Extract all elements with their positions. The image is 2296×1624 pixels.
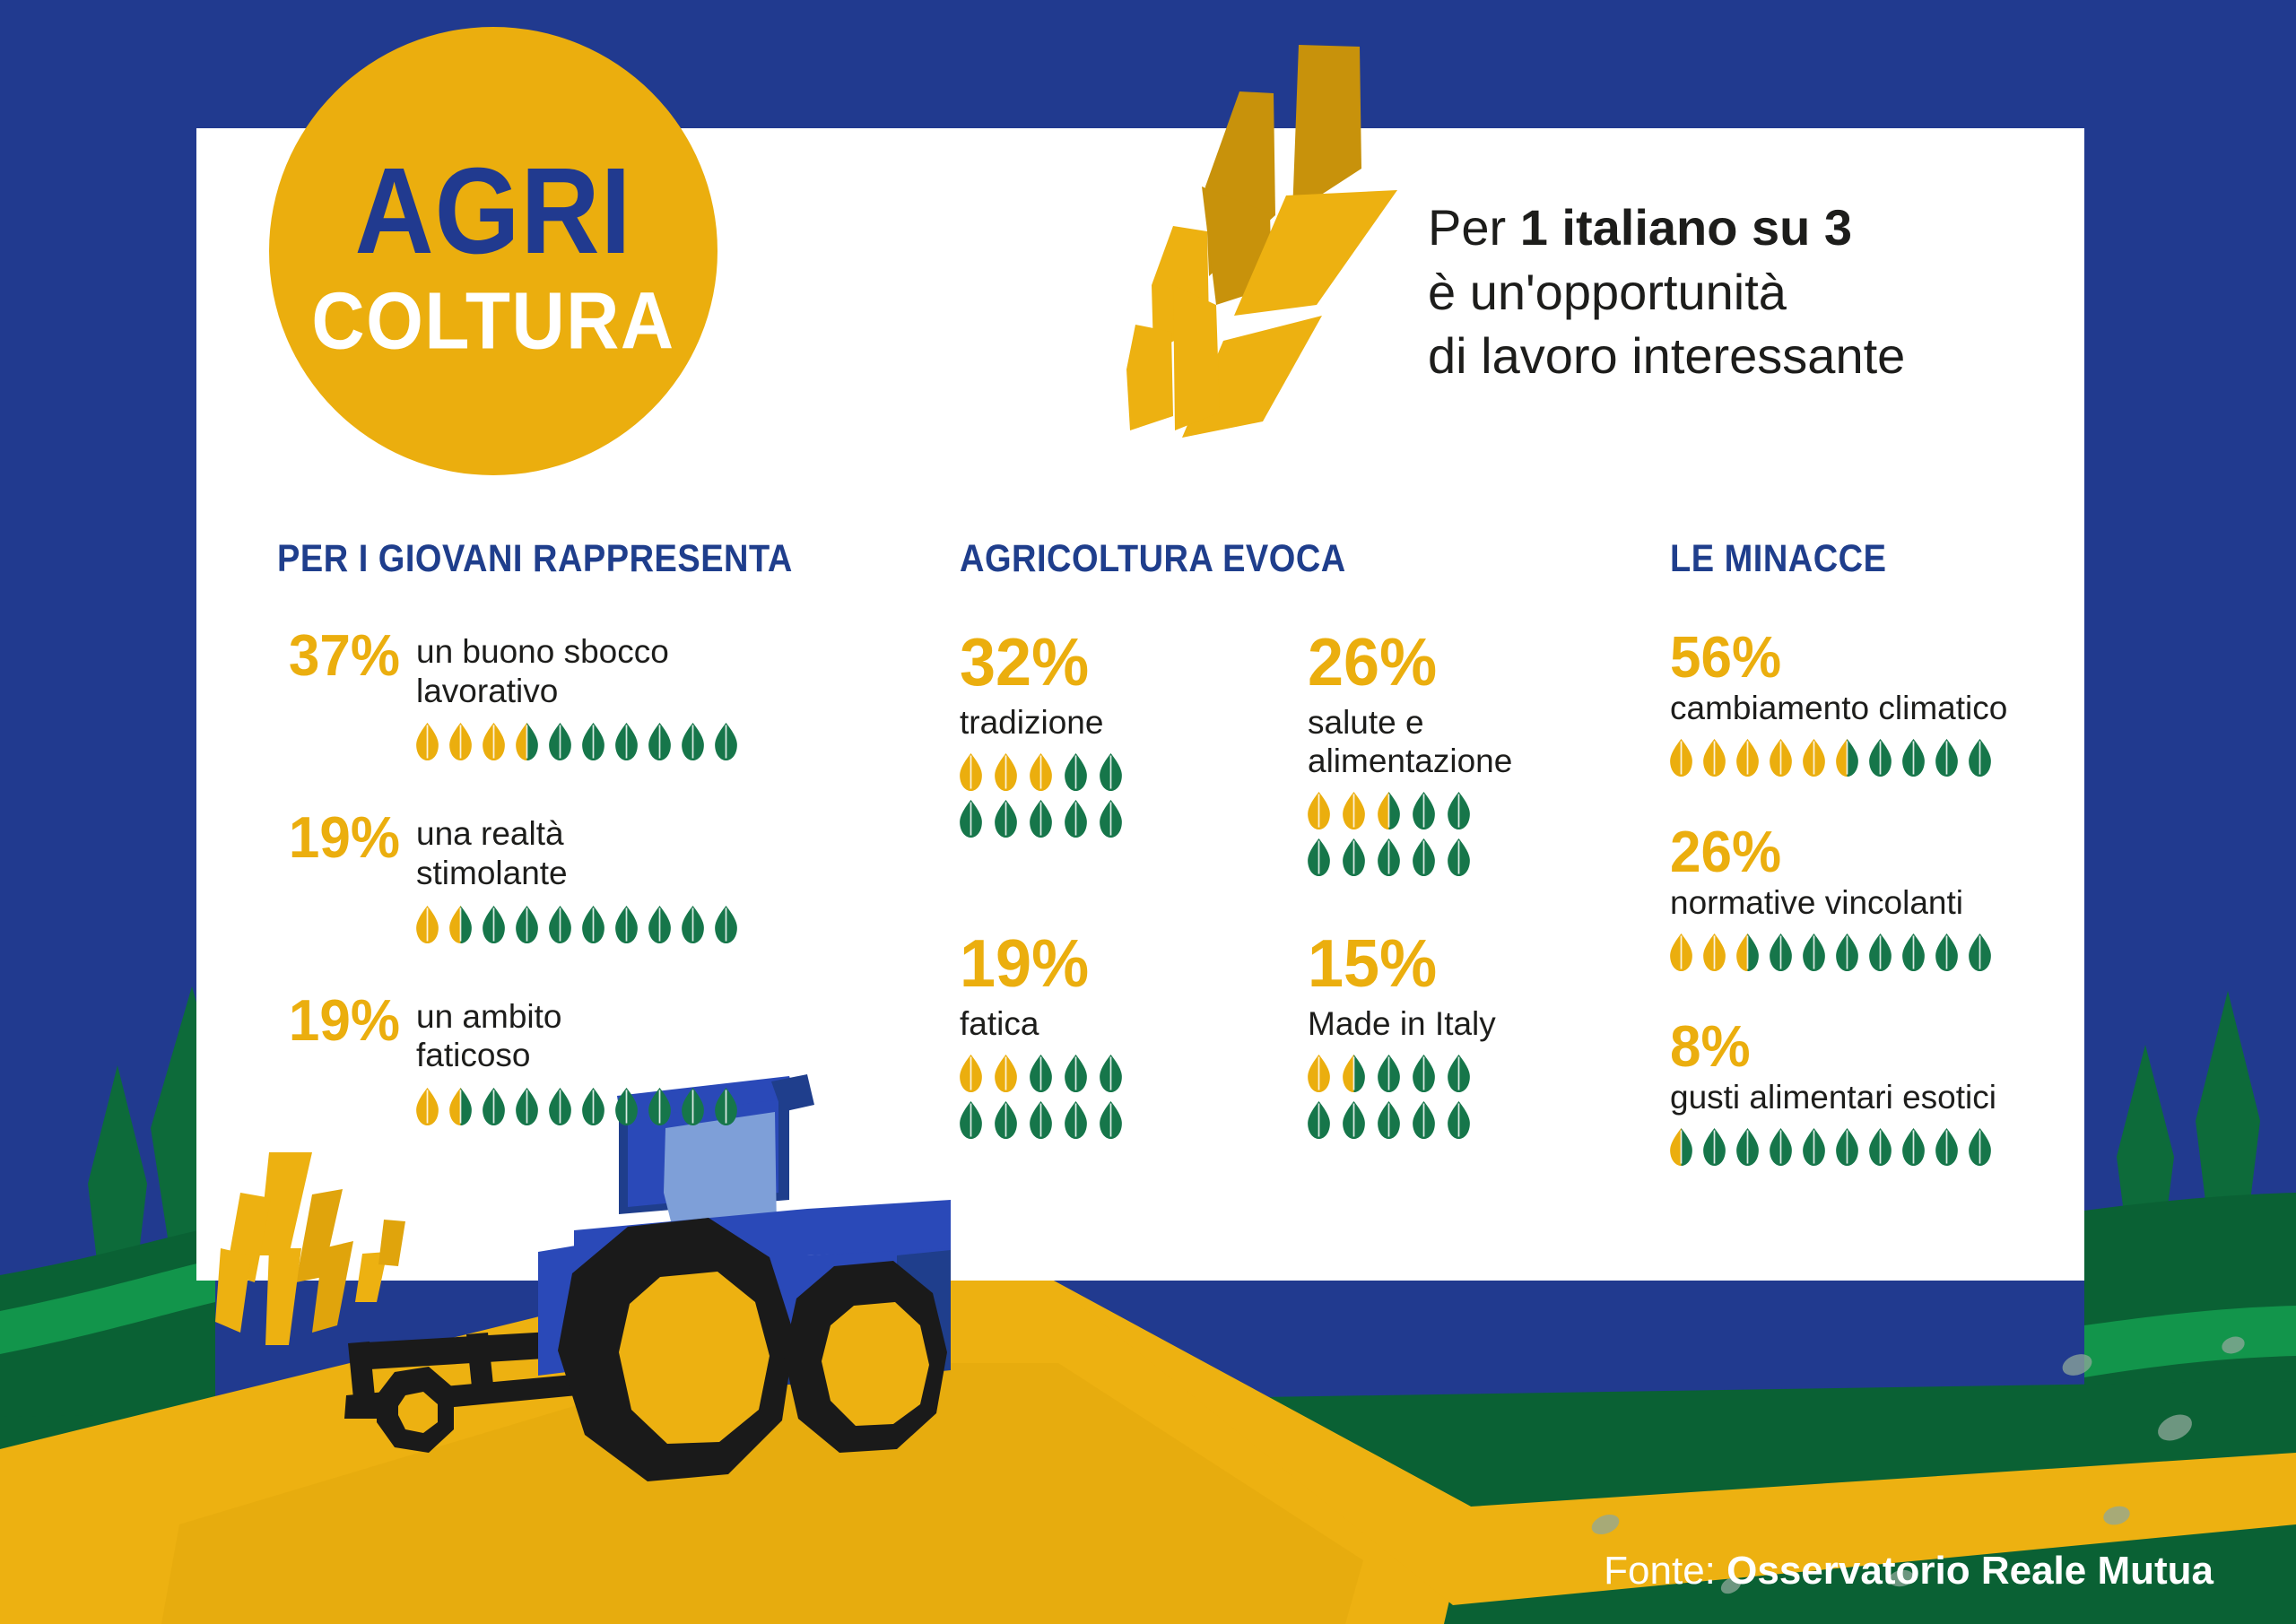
leaf-empty-icon: [715, 723, 737, 760]
leaf-empty-icon: [1448, 792, 1470, 829]
leaf-meter: [1308, 1055, 1483, 1139]
leaf-slot: [615, 723, 638, 760]
column-title: AGRICOLTURA EVOCA: [960, 538, 1605, 581]
source-label: Fonte:: [1604, 1549, 1716, 1593]
leaf-slot: [582, 1088, 604, 1125]
leaf-slot: [1343, 792, 1365, 829]
leaf-slot: [449, 723, 472, 760]
leaf-empty-icon: [1343, 838, 1365, 876]
leaf-empty-icon: [1030, 1101, 1052, 1139]
leaf-slot: [1413, 838, 1435, 876]
leaf-empty-icon: [1869, 739, 1892, 777]
leaf-meter: [1670, 1128, 2002, 1166]
leaf-slot: [1308, 838, 1330, 876]
leaf-slot: [995, 800, 1017, 838]
leaf-slot: [682, 906, 704, 943]
leaf-slot: [1343, 1101, 1365, 1139]
leaf-slot: [1869, 1128, 1892, 1166]
leaf-slot: [1902, 739, 1925, 777]
source-name: Osservatorio Reale Mutua: [1726, 1549, 2213, 1593]
leaf-empty-icon: [1803, 1128, 1825, 1166]
stat-label: un buono sboccolavorativo: [416, 632, 896, 710]
stat-label: una realtàstimolante: [416, 814, 896, 892]
leaf-filled-icon: [1703, 934, 1726, 971]
leaf-slot: [995, 1055, 1017, 1092]
leaf-empty-icon: [516, 1088, 538, 1125]
leaf-meter: [960, 753, 1135, 838]
column-title: LE MINACCE: [1670, 538, 2056, 581]
leaf-slot: [1378, 792, 1400, 829]
leaf-empty-icon: [516, 906, 538, 943]
leaf-slot: [416, 1088, 439, 1125]
leaf-empty-icon: [1935, 1128, 1958, 1166]
headline-pre: Per: [1428, 199, 1520, 256]
leaf-slot: [648, 906, 671, 943]
leaf-empty-icon: [1736, 1128, 1759, 1166]
leaf-slot: [516, 1088, 538, 1125]
leaf-slot: [1100, 1055, 1122, 1092]
leaf-empty-icon: [1100, 800, 1122, 838]
leaf-slot: [1413, 1055, 1435, 1092]
leaf-filled-icon: [416, 906, 439, 943]
tractor-wheel-front-icon: [784, 1261, 947, 1453]
leaf-empty-icon: [682, 1088, 704, 1125]
leaf-empty-icon: [1935, 739, 1958, 777]
leaf-empty-icon: [1869, 934, 1892, 971]
stat-label: un ambitofaticoso: [416, 997, 896, 1075]
leaf-empty-icon: [1308, 1101, 1330, 1139]
stat-percent: 19%: [960, 930, 1193, 998]
leaf-slot: [960, 1055, 982, 1092]
stat-cell: 15%Made in Italy: [1308, 932, 1541, 1139]
leaf-half-icon: [449, 906, 472, 943]
leaf-slot: [449, 906, 472, 943]
stat-percent: 26%: [1308, 629, 1541, 697]
leaf-slot: [1448, 1055, 1470, 1092]
leaf-slot: [648, 1088, 671, 1125]
leaf-empty-icon: [582, 906, 604, 943]
leaf-slot: [1902, 1128, 1925, 1166]
leaf-empty-icon: [960, 800, 982, 838]
leaf-slot: [516, 723, 538, 760]
stat-label: tradizione: [960, 704, 1193, 743]
leaf-empty-icon: [483, 1088, 505, 1125]
leaf-empty-icon: [1969, 739, 1991, 777]
leaf-slot: [1703, 934, 1726, 971]
leaf-slot: [1030, 1101, 1052, 1139]
leaf-filled-icon: [416, 723, 439, 760]
leaf-filled-icon: [1670, 739, 1692, 777]
stat-row: 19%una realtàstimolante: [277, 811, 896, 942]
leaf-slot: [1065, 1101, 1087, 1139]
stat-label: salute ealimentazione: [1308, 704, 1541, 781]
leaf-empty-icon: [549, 723, 571, 760]
stat-grid-row: 32%tradizione26%salute ealimentazione: [960, 630, 1605, 876]
leaf-empty-icon: [1065, 1055, 1087, 1092]
leaf-empty-icon: [1902, 934, 1925, 971]
leaf-empty-icon: [960, 1101, 982, 1139]
leaf-filled-icon: [449, 723, 472, 760]
leaf-half-icon: [1836, 739, 1858, 777]
leaf-slot: [1308, 1055, 1330, 1092]
leaf-slot: [682, 1088, 704, 1125]
leaf-slot: [1065, 753, 1087, 791]
column-title: PER I GIOVANI RAPPRESENTA: [277, 538, 896, 581]
leaf-empty-icon: [1448, 1101, 1470, 1139]
leaf-slot: [995, 1101, 1017, 1139]
logo-title-coltura: COLTURA: [311, 282, 674, 362]
leaf-slot: [1836, 1128, 1858, 1166]
leaf-empty-icon: [648, 906, 671, 943]
leaf-filled-icon: [1343, 792, 1365, 829]
leaf-filled-icon: [1670, 934, 1692, 971]
stat-cell: 32%tradizione: [960, 630, 1193, 838]
leaf-meter: [1308, 792, 1483, 876]
leaf-slot: [1343, 1055, 1365, 1092]
leaf-slot: [682, 723, 704, 760]
leaf-slot: [995, 753, 1017, 791]
leaf-half-icon: [1736, 934, 1759, 971]
stat-row: 19%un ambitofaticoso: [277, 994, 896, 1125]
leaf-slot: [483, 1088, 505, 1125]
stat-percent: 15%: [1308, 930, 1541, 998]
stat-row: 56%cambiamento climatico: [1670, 630, 2056, 777]
leaf-half-icon: [1343, 1055, 1365, 1092]
leaf-empty-icon: [615, 906, 638, 943]
leaf-slot: [1935, 1128, 1958, 1166]
leaf-empty-icon: [1902, 1128, 1925, 1166]
leaf-filled-icon: [1030, 753, 1052, 791]
leaf-slot: [1836, 739, 1858, 777]
leaf-slot: [1378, 838, 1400, 876]
leaf-empty-icon: [615, 1088, 638, 1125]
leaf-slot: [483, 723, 505, 760]
stat-label: fatica: [960, 1005, 1193, 1044]
leaf-slot: [1935, 934, 1958, 971]
leaf-slot: [960, 753, 982, 791]
stat-percent: 37%: [277, 627, 416, 685]
leaf-slot: [1670, 1128, 1692, 1166]
leaf-filled-icon: [995, 1055, 1017, 1092]
leaf-empty-icon: [1969, 1128, 1991, 1166]
leaf-slot: [582, 723, 604, 760]
leaf-slot: [1869, 739, 1892, 777]
leaf-slot: [1803, 1128, 1825, 1166]
leaf-empty-icon: [1100, 753, 1122, 791]
leaf-meter: [416, 723, 748, 760]
leaf-empty-icon: [1969, 934, 1991, 971]
leaf-empty-icon: [1065, 800, 1087, 838]
stat-row: 26%normative vincolanti: [1670, 825, 2056, 971]
leaf-empty-icon: [1902, 739, 1925, 777]
leaf-empty-icon: [715, 1088, 737, 1125]
leaf-slot: [1670, 934, 1692, 971]
column-rows: 56%cambiamento climatico26%normative vin…: [1670, 630, 2056, 1166]
leaf-empty-icon: [682, 723, 704, 760]
stat-percent: 8%: [1670, 1018, 2056, 1076]
leaf-slot: [1969, 934, 1991, 971]
leaf-empty-icon: [615, 723, 638, 760]
leaf-slot: [1030, 753, 1052, 791]
stat-label: normative vincolanti: [1670, 884, 2056, 923]
stat-label: Made in Italy: [1308, 1005, 1541, 1044]
leaf-empty-icon: [1413, 838, 1435, 876]
leaf-empty-icon: [995, 1101, 1017, 1139]
leaf-slot: [1703, 1128, 1726, 1166]
leaf-slot: [1803, 739, 1825, 777]
headline-stat: Per 1 italiano su 3 è un'opportunità di …: [1428, 195, 1905, 388]
leaf-empty-icon: [549, 906, 571, 943]
leaf-filled-icon: [995, 753, 1017, 791]
leaf-empty-icon: [1770, 1128, 1792, 1166]
leaf-slot: [1413, 792, 1435, 829]
leaf-slot: [416, 723, 439, 760]
leaf-filled-icon: [1703, 739, 1726, 777]
leaf-slot: [1413, 1101, 1435, 1139]
leaf-half-icon: [1378, 792, 1400, 829]
leaf-empty-icon: [1803, 934, 1825, 971]
leaf-slot: [449, 1088, 472, 1125]
column-rows: 32%tradizione26%salute ealimentazione19%…: [960, 630, 1605, 1139]
leaf-meter: [1670, 739, 2002, 777]
leaf-slot: [960, 800, 982, 838]
leaf-slot: [1836, 934, 1858, 971]
leaf-empty-icon: [1413, 1055, 1435, 1092]
headline-line3: di lavoro interessante: [1428, 324, 1905, 388]
leaf-slot: [1100, 753, 1122, 791]
stat-percent: 32%: [960, 629, 1193, 697]
leaf-slot: [1030, 800, 1052, 838]
leaf-empty-icon: [1836, 934, 1858, 971]
leaf-empty-icon: [648, 1088, 671, 1125]
leaf-filled-icon: [1770, 739, 1792, 777]
leaf-slot: [582, 906, 604, 943]
leaf-meter: [416, 1088, 748, 1125]
leaf-slot: [1308, 792, 1330, 829]
leaf-slot: [960, 1101, 982, 1139]
leaf-filled-icon: [960, 1055, 982, 1092]
leaf-filled-icon: [1736, 739, 1759, 777]
leaf-empty-icon: [1030, 800, 1052, 838]
leaf-filled-icon: [483, 723, 505, 760]
leaf-filled-icon: [416, 1088, 439, 1125]
leaf-slot: [648, 723, 671, 760]
leaf-empty-icon: [1378, 1055, 1400, 1092]
leaf-half-icon: [516, 723, 538, 760]
leaf-meter: [416, 906, 748, 943]
leaf-slot: [1736, 739, 1759, 777]
stat-percent: 26%: [1670, 823, 2056, 881]
leaf-slot: [1308, 1101, 1330, 1139]
leaf-slot: [1803, 934, 1825, 971]
leaf-empty-icon: [1378, 838, 1400, 876]
leaf-slot: [1703, 739, 1726, 777]
leaf-slot: [615, 1088, 638, 1125]
leaf-slot: [1736, 934, 1759, 971]
column-per-i-giovani-rappresenta: PER I GIOVANI RAPPRESENTA 37%un buono sb…: [277, 538, 896, 1125]
leaf-half-icon: [449, 1088, 472, 1125]
leaf-slot: [1448, 838, 1470, 876]
leaf-slot: [1378, 1055, 1400, 1092]
leaf-empty-icon: [1308, 838, 1330, 876]
leaf-empty-icon: [715, 906, 737, 943]
leaf-meter: [1670, 934, 2002, 971]
stat-label: gusti alimentari esotici: [1670, 1079, 2056, 1117]
leaf-slot: [1065, 1055, 1087, 1092]
leaf-empty-icon: [1378, 1101, 1400, 1139]
leaf-empty-icon: [1100, 1055, 1122, 1092]
stat-percent: 56%: [1670, 629, 2056, 687]
leaf-empty-icon: [1065, 1101, 1087, 1139]
leaf-slot: [1065, 800, 1087, 838]
stat-label: cambiamento climatico: [1670, 690, 2056, 728]
leaf-slot: [1935, 739, 1958, 777]
leaf-empty-icon: [1448, 1055, 1470, 1092]
leaf-empty-icon: [1869, 1128, 1892, 1166]
logo-title-agri: AGRI: [355, 150, 632, 273]
leaf-filled-icon: [1308, 792, 1330, 829]
leaf-half-icon: [1670, 1128, 1692, 1166]
leaf-slot: [516, 906, 538, 943]
stat-percent: 19%: [277, 810, 416, 868]
leaf-slot: [1670, 739, 1692, 777]
leaf-slot: [549, 1088, 571, 1125]
wheat-ear-small-icon: [215, 1152, 405, 1345]
column-le-minacce: LE MINACCE 56%cambiamento climatico26%no…: [1670, 538, 2056, 1166]
leaf-slot: [1448, 792, 1470, 829]
leaf-empty-icon: [1343, 1101, 1365, 1139]
leaf-slot: [1770, 739, 1792, 777]
leaf-slot: [1969, 1128, 1991, 1166]
leaf-slot: [1902, 934, 1925, 971]
leaf-empty-icon: [582, 723, 604, 760]
source-credit: Fonte: Osservatorio Reale Mutua: [1604, 1549, 2213, 1594]
leaf-empty-icon: [1770, 934, 1792, 971]
leaf-slot: [1869, 934, 1892, 971]
agricoltura-logo-badge: AGRI COLTURA: [269, 27, 717, 475]
leaf-slot: [1770, 1128, 1792, 1166]
stat-grid-row: 19%fatica15%Made in Italy: [960, 932, 1605, 1139]
leaf-empty-icon: [1703, 1128, 1726, 1166]
wheat-ear-icon: [1109, 36, 1422, 439]
stat-row: 8%gusti alimentari esotici: [1670, 1020, 2056, 1166]
leaf-slot: [615, 906, 638, 943]
leaf-empty-icon: [1030, 1055, 1052, 1092]
leaf-empty-icon: [1413, 792, 1435, 829]
leaf-empty-icon: [995, 800, 1017, 838]
headline-bold: 1 italiano su 3: [1520, 199, 1852, 256]
leaf-slot: [1030, 1055, 1052, 1092]
leaf-slot: [416, 906, 439, 943]
leaf-empty-icon: [1448, 838, 1470, 876]
leaf-slot: [1770, 934, 1792, 971]
leaf-meter: [960, 1055, 1135, 1139]
leaf-filled-icon: [1803, 739, 1825, 777]
leaf-slot: [1100, 1101, 1122, 1139]
leaf-filled-icon: [1308, 1055, 1330, 1092]
leaf-slot: [715, 1088, 737, 1125]
leaf-slot: [1100, 800, 1122, 838]
leaf-empty-icon: [1413, 1101, 1435, 1139]
leaf-slot: [1448, 1101, 1470, 1139]
stat-percent: 19%: [277, 992, 416, 1050]
leaf-slot: [715, 906, 737, 943]
leaf-empty-icon: [582, 1088, 604, 1125]
leaf-empty-icon: [1836, 1128, 1858, 1166]
leaf-slot: [1378, 1101, 1400, 1139]
column-agricoltura-evoca: AGRICOLTURA EVOCA 32%tradizione26%salute…: [960, 538, 1605, 1139]
headline-line2: è un'opportunità: [1428, 260, 1905, 325]
leaf-filled-icon: [960, 753, 982, 791]
stat-cell: 26%salute ealimentazione: [1308, 630, 1541, 876]
leaf-empty-icon: [1065, 753, 1087, 791]
leaf-empty-icon: [1935, 934, 1958, 971]
leaf-slot: [1969, 739, 1991, 777]
leaf-empty-icon: [682, 906, 704, 943]
leaf-slot: [1736, 1128, 1759, 1166]
column-rows: 37%un buono sboccolavorativo19%una realt…: [277, 629, 896, 1125]
leaf-slot: [1343, 838, 1365, 876]
stat-cell: 19%fatica: [960, 932, 1193, 1139]
leaf-slot: [549, 906, 571, 943]
trailer-wheel-icon: [377, 1367, 454, 1453]
leaf-empty-icon: [648, 723, 671, 760]
leaf-empty-icon: [549, 1088, 571, 1125]
tractor-wheel-rear-icon: [558, 1218, 795, 1481]
leaf-slot: [715, 723, 737, 760]
leaf-empty-icon: [483, 906, 505, 943]
stat-row: 37%un buono sboccolavorativo: [277, 629, 896, 760]
leaf-slot: [483, 906, 505, 943]
leaf-empty-icon: [1100, 1101, 1122, 1139]
leaf-slot: [549, 723, 571, 760]
